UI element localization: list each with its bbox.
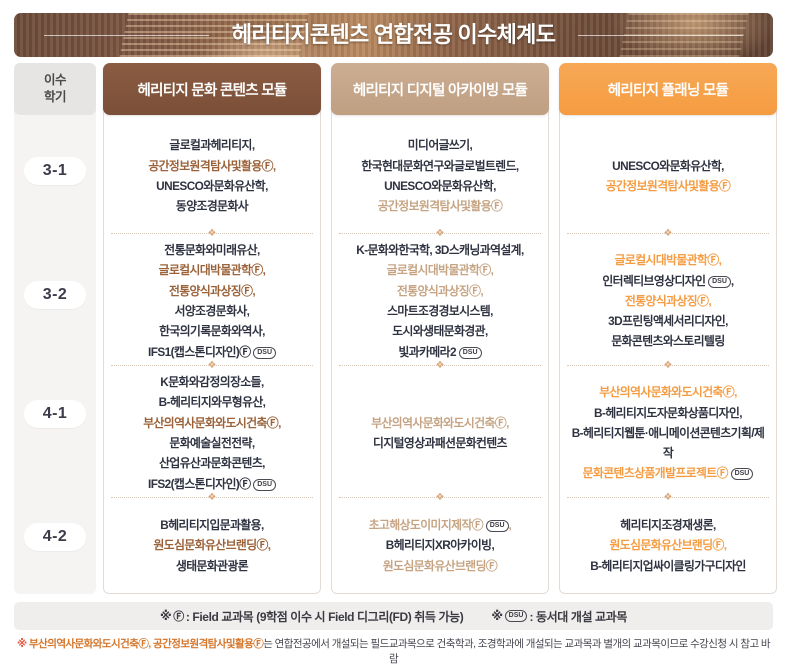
legend-text-dsu: : 동서대 개설 교과목 bbox=[529, 608, 627, 625]
course-name: 원도심문화유산브랜딩 bbox=[383, 559, 486, 573]
course-comma: , bbox=[491, 263, 494, 277]
cell-archive-3-2: K-문화와한국학, 3D스캐닝과역설계,글로컬시대박물관학Ⓕ,전통양식과상징Ⓕ,… bbox=[331, 239, 549, 363]
course-line: 인터렉티브영상디자인 DSU, bbox=[602, 271, 733, 291]
course-name: 전통양식과상징 bbox=[169, 284, 241, 298]
diamond-ornament-icon: ❖ bbox=[435, 493, 445, 503]
course-name: 글로컬시대박물관학 bbox=[159, 263, 252, 277]
course-line: UNESCO와문화유산학, bbox=[148, 176, 275, 196]
diamond-ornament-icon: ❖ bbox=[207, 229, 217, 239]
course-comma: , bbox=[731, 274, 734, 288]
course-comma: , bbox=[708, 294, 711, 308]
course-name: 도시와생태문화경관, bbox=[392, 324, 487, 338]
course-name: 동양조경문화사 bbox=[176, 199, 248, 213]
course-line: 문화콘텐츠상품개발프로젝트Ⓕ DSU bbox=[567, 463, 769, 483]
course-line: 한국현대문화연구와글로벌트렌드, bbox=[361, 156, 518, 176]
course-name: 인터렉티브영상디자인 bbox=[602, 274, 705, 288]
course-name: 산업유산과문화콘텐츠, bbox=[159, 456, 265, 470]
course-name: IFS1(캡스톤디자인) bbox=[148, 345, 239, 359]
course-line: 글로컬시대박물관학Ⓕ, bbox=[148, 260, 276, 280]
legend-star-icon: ※ bbox=[491, 609, 502, 623]
course-name: 한국현대문화연구와글로벌트렌드, bbox=[361, 159, 518, 173]
course-name: 서양조경문화사, bbox=[175, 304, 250, 318]
cell-planning-3-1: UNESCO와문화유산학,공간정보원격탐사및활용Ⓕ bbox=[559, 121, 777, 231]
semester-column-header: 이수 학기 bbox=[14, 63, 96, 115]
course-line: 헤리티지조경재생론, bbox=[590, 515, 746, 535]
cell-culture-4-1: K문화와감정의장소들,B-헤리티지와무형유산,부산의역사문화와도시건축Ⓕ,문화예… bbox=[103, 371, 321, 495]
module-header-planning[interactable]: 헤리티지 플래닝 모듈 bbox=[559, 63, 777, 115]
module-column-planning: 헤리티지 플래닝 모듈 UNESCO와문화유산학,공간정보원격탐사및활용Ⓕ 글로… bbox=[559, 63, 777, 594]
row-divider-archive-2: ❖ bbox=[339, 365, 541, 367]
legend-item-dsu: ※ DSU : 동서대 개설 교과목 bbox=[491, 608, 627, 625]
diamond-ornament-icon: ❖ bbox=[663, 493, 673, 503]
circle-f-icon: Ⓕ bbox=[707, 253, 718, 267]
course-line: 디지털영상과패션문화컨텐츠 bbox=[371, 433, 509, 453]
row-divider-culture-3: ❖ bbox=[111, 497, 313, 499]
footnote-emphasis-2: 공간정보원격탐사및활용Ⓕ bbox=[153, 638, 263, 650]
dsu-badge-icon: DSU bbox=[459, 347, 482, 359]
circle-f-icon: Ⓕ bbox=[173, 608, 184, 624]
circle-f-icon: Ⓕ bbox=[267, 416, 278, 430]
course-name: 헤리티지조경재생론, bbox=[620, 518, 715, 532]
course-line: IFS2(캡스톤디자인)Ⓕ DSU bbox=[143, 474, 281, 494]
course-name: 미디어글쓰기, bbox=[408, 138, 473, 152]
course-comma: , bbox=[480, 284, 483, 298]
cell-archive-4-1: 부산의역사문화와도시건축Ⓕ,디지털영상과패션문화컨텐츠 bbox=[331, 371, 549, 495]
course-line: 전통양식과상징Ⓕ, bbox=[148, 281, 276, 301]
circle-f-icon: Ⓕ bbox=[257, 538, 268, 552]
circle-f-icon: Ⓕ bbox=[251, 263, 262, 277]
row-divider-planning-1: ❖ bbox=[567, 233, 769, 235]
course-name: 공간정보원격탐사및활용 bbox=[378, 199, 491, 213]
semester-label-4-2: 4-2 bbox=[24, 523, 86, 551]
course-line: B-헤리티지웹툰·애니메이션콘텐츠기획/제작 bbox=[567, 423, 769, 464]
course-line: UNESCO와문화유산학, bbox=[361, 176, 518, 196]
page-title: 헤리티지콘텐츠 연합전공 이수체계도 bbox=[14, 13, 773, 57]
course-name: 글로컬시대박물관학 bbox=[387, 263, 480, 277]
course-name: 공간정보원격탐사및활용 bbox=[606, 179, 719, 193]
title-banner: 헤리티지콘텐츠 연합전공 이수체계도 bbox=[14, 13, 773, 57]
dsu-badge-icon: DSU bbox=[253, 479, 276, 491]
curriculum-grid: 이수 학기 3-1 3-2 4-1 4-2 헤리티지 문화 콘텐츠 모듈 글로컬… bbox=[14, 63, 773, 594]
circle-f-icon: Ⓕ bbox=[719, 179, 730, 193]
course-line: 미디어글쓰기, bbox=[361, 135, 518, 155]
course-comma: , bbox=[719, 253, 722, 267]
circle-f-icon: Ⓕ bbox=[479, 263, 490, 277]
course-line: 원도심문화유산브랜딩Ⓕ, bbox=[153, 535, 270, 555]
course-name: B-헤리티지와무형유산, bbox=[159, 395, 266, 409]
course-line: 공간정보원격탐사및활용Ⓕ bbox=[606, 176, 731, 196]
semester-label-4-1: 4-1 bbox=[24, 400, 86, 428]
course-name: 공간정보원격탐사및활용 bbox=[148, 159, 261, 173]
row-divider-culture-2: ❖ bbox=[111, 365, 313, 367]
course-comma: , bbox=[273, 159, 276, 173]
course-comma: , bbox=[509, 518, 512, 532]
course-name: 문화콘텐츠와스토리텔링 bbox=[611, 334, 724, 348]
row-divider-culture-1: ❖ bbox=[111, 233, 313, 235]
legend-star-icon: ※ bbox=[160, 609, 171, 623]
module-column-archive: 헤리티지 디지털 아카이빙 모듈 미디어글쓰기,한국현대문화연구와글로벌트렌드,… bbox=[331, 63, 549, 594]
course-line: K-문화와한국학, 3D스캐닝과역설계, bbox=[356, 240, 523, 260]
course-comma: , bbox=[268, 538, 271, 552]
course-comma: , bbox=[252, 284, 255, 298]
course-name: 문화예술실전전략, bbox=[169, 436, 254, 450]
circle-f-icon: Ⓕ bbox=[486, 559, 497, 573]
course-line: 원도심문화유산브랜딩Ⓕ bbox=[369, 556, 512, 576]
course-name: K-문화와한국학, 3D스캐닝과역설계, bbox=[356, 243, 523, 257]
course-line: B-헤리티지도자문화상품디자인, bbox=[567, 403, 769, 423]
circle-f-icon: Ⓕ bbox=[239, 477, 250, 491]
course-line: 원도심문화유산브랜딩Ⓕ, bbox=[590, 535, 746, 555]
course-line: 문화예술실전전략, bbox=[143, 433, 281, 453]
course-comma: , bbox=[278, 416, 281, 430]
cell-culture-3-1: 글로컬과헤리티지,공간정보원격탐사및활용Ⓕ,UNESCO와문화유산학,동양조경문… bbox=[103, 121, 321, 231]
dsu-badge-icon: DSU bbox=[708, 276, 731, 288]
course-name: 전통양식과상징 bbox=[397, 284, 469, 298]
footnote-star-icon: ※ bbox=[17, 638, 27, 650]
course-line: 글로컬과헤리티지, bbox=[148, 135, 275, 155]
course-name: 부산의역사문화와도시건축 bbox=[599, 385, 723, 399]
circle-f-icon: Ⓕ bbox=[472, 518, 483, 532]
course-name: 전통양식과상징 bbox=[625, 294, 697, 308]
course-name: 빛과카메라2 bbox=[398, 345, 456, 359]
course-name: 전통문화와미래유산, bbox=[164, 243, 259, 257]
cell-archive-3-1: 미디어글쓰기,한국현대문화연구와글로벌트렌드,UNESCO와문화유산학,공간정보… bbox=[331, 121, 549, 231]
circle-f-icon: Ⓕ bbox=[697, 294, 708, 308]
circle-f-icon: Ⓕ bbox=[241, 284, 252, 298]
module-header-culture[interactable]: 헤리티지 문화 콘텐츠 모듈 bbox=[103, 63, 321, 115]
cell-culture-4-2: B헤리티지입문과활용,원도심문화유산브랜딩Ⓕ,생태문화관광론 bbox=[103, 503, 321, 588]
course-name: B-헤리티지웹툰·애니메이션콘텐츠기획/제작 bbox=[572, 426, 765, 460]
semester-header-line1: 이수 bbox=[44, 72, 66, 89]
legend-bar: ※ Ⓕ : Field 교과목 (9학점 이수 시 Field 디그리(FD) … bbox=[14, 602, 773, 630]
course-line: 전통문화와미래유산, bbox=[148, 240, 276, 260]
course-line: IFS1(캡스톤디자인)Ⓕ DSU bbox=[148, 342, 276, 362]
footnote: ※ 부산의역사문화와도시건축Ⓕ, 공간정보원격탐사및활용Ⓕ는 연합전공에서 개설… bbox=[14, 636, 773, 666]
row-divider-archive-3: ❖ bbox=[339, 497, 541, 499]
circle-f-icon: Ⓕ bbox=[262, 159, 273, 173]
course-comma: , bbox=[506, 416, 509, 430]
course-comma: , bbox=[724, 538, 727, 552]
footnote-rest: 는 연합전공에서 개설되는 필드교과목으로 건축학과, 조경학과에 개설되는 교… bbox=[263, 638, 770, 665]
module-column-culture: 헤리티지 문화 콘텐츠 모듈 글로컬과헤리티지,공간정보원격탐사및활용Ⓕ,UNE… bbox=[103, 63, 321, 594]
course-name: B헤리티지XR아카이빙, bbox=[386, 538, 494, 552]
course-name: 스마트조경경보시스템, bbox=[387, 304, 493, 318]
cell-planning-4-2: 헤리티지조경재생론,원도심문화유산브랜딩Ⓕ,B-헤리티지업싸이클링가구디자인 bbox=[559, 503, 777, 588]
diamond-ornament-icon: ❖ bbox=[663, 361, 673, 371]
course-name: B-헤리티지도자문화상품디자인, bbox=[594, 406, 742, 420]
module-header-archive[interactable]: 헤리티지 디지털 아카이빙 모듈 bbox=[331, 63, 549, 115]
course-line: B-헤리티지와무형유산, bbox=[143, 392, 281, 412]
course-line: 초고해상도이미지제작Ⓕ DSU, bbox=[369, 515, 512, 535]
cell-culture-3-2: 전통문화와미래유산,글로컬시대박물관학Ⓕ,전통양식과상징Ⓕ,서양조경문화사,한국… bbox=[103, 239, 321, 363]
circle-f-icon: Ⓕ bbox=[495, 416, 506, 430]
dsu-badge-icon: DSU bbox=[505, 610, 528, 622]
course-name: UNESCO와문화유산학, bbox=[612, 159, 724, 173]
course-line: 3D프린팅액세서리디자인, bbox=[602, 311, 733, 331]
diamond-ornament-icon: ❖ bbox=[207, 493, 217, 503]
course-line: K문화와감정의장소들, bbox=[143, 372, 281, 392]
course-name: 3D프린팅액세서리디자인, bbox=[608, 314, 728, 328]
diamond-ornament-icon: ❖ bbox=[435, 361, 445, 371]
course-name: 생태문화관광론 bbox=[176, 559, 248, 573]
course-line: 부산의역사문화와도시건축Ⓕ, bbox=[567, 382, 769, 402]
course-line: 도시와생태문화경관, bbox=[356, 321, 523, 341]
course-name: 한국의기록문화와역사, bbox=[159, 324, 265, 338]
legend-item-field: ※ Ⓕ : Field 교과목 (9학점 이수 시 Field 디그리(FD) … bbox=[160, 608, 463, 625]
footnote-emphasis-1: 부산의역사문화와도시건축Ⓕ bbox=[29, 638, 148, 650]
semester-label-3-1: 3-1 bbox=[24, 157, 86, 185]
circle-f-icon: Ⓕ bbox=[491, 199, 502, 213]
dsu-badge-icon: DSU bbox=[731, 468, 754, 480]
course-line: UNESCO와문화유산학, bbox=[606, 156, 731, 176]
course-name: UNESCO와문화유산학, bbox=[384, 179, 496, 193]
dsu-badge-icon: DSU bbox=[253, 347, 276, 359]
circle-f-icon: Ⓕ bbox=[469, 284, 480, 298]
course-line: 글로컬시대박물관학Ⓕ, bbox=[602, 250, 733, 270]
diamond-ornament-icon: ❖ bbox=[435, 229, 445, 239]
course-name: 글로컬과헤리티지, bbox=[169, 138, 254, 152]
course-name: B헤리티지입문과활용, bbox=[160, 518, 263, 532]
course-line: 생태문화관광론 bbox=[153, 556, 270, 576]
circle-f-icon: Ⓕ bbox=[723, 385, 734, 399]
course-name: 부산의역사문화와도시건축 bbox=[371, 416, 495, 430]
course-name: K문화와감정의장소들, bbox=[160, 375, 263, 389]
circle-f-icon: Ⓕ bbox=[717, 466, 728, 480]
curriculum-diagram: 헤리티지콘텐츠 연합전공 이수체계도 이수 학기 3-1 3-2 4-1 4-2… bbox=[0, 0, 787, 658]
diamond-ornament-icon: ❖ bbox=[207, 361, 217, 371]
course-line: 부산의역사문화와도시건축Ⓕ, bbox=[371, 413, 509, 433]
course-line: 공간정보원격탐사및활용Ⓕ bbox=[361, 196, 518, 216]
course-line: B헤리티지XR아카이빙, bbox=[369, 535, 512, 555]
circle-f-icon: Ⓕ bbox=[239, 345, 250, 359]
course-line: 스마트조경경보시스템, bbox=[356, 301, 523, 321]
course-name: 원도심문화유산브랜딩 bbox=[153, 538, 256, 552]
cell-archive-4-2: 초고해상도이미지제작Ⓕ DSU,B헤리티지XR아카이빙,원도심문화유산브랜딩Ⓕ bbox=[331, 503, 549, 588]
course-name: UNESCO와문화유산학, bbox=[156, 179, 268, 193]
course-name: IFS2(캡스톤디자인) bbox=[148, 477, 239, 491]
circle-f-icon: Ⓕ bbox=[713, 538, 724, 552]
course-line: 전통양식과상징Ⓕ, bbox=[356, 281, 523, 301]
row-divider-planning-3: ❖ bbox=[567, 497, 769, 499]
course-line: 동양조경문화사 bbox=[148, 196, 275, 216]
course-line: 빛과카메라2 DSU bbox=[356, 342, 523, 362]
row-divider-planning-2: ❖ bbox=[567, 365, 769, 367]
course-line: 부산의역사문화와도시건축Ⓕ, bbox=[143, 413, 281, 433]
course-line: 서양조경문화사, bbox=[148, 301, 276, 321]
course-name: B-헤리티지업싸이클링가구디자인 bbox=[590, 559, 746, 573]
course-line: 글로컬시대박물관학Ⓕ, bbox=[356, 260, 523, 280]
cell-planning-3-2: 글로컬시대박물관학Ⓕ,인터렉티브영상디자인 DSU,전통양식과상징Ⓕ,3D프린팅… bbox=[559, 239, 777, 363]
diamond-ornament-icon: ❖ bbox=[663, 229, 673, 239]
course-name: 초고해상도이미지제작 bbox=[369, 518, 472, 532]
course-line: 산업유산과문화콘텐츠, bbox=[143, 453, 281, 473]
course-comma: , bbox=[263, 263, 266, 277]
course-line: B헤리티지입문과활용, bbox=[153, 515, 270, 535]
course-line: 전통양식과상징Ⓕ, bbox=[602, 291, 733, 311]
row-divider-archive-1: ❖ bbox=[339, 233, 541, 235]
course-comma: , bbox=[734, 385, 737, 399]
cell-planning-4-1: 부산의역사문화와도시건축Ⓕ,B-헤리티지도자문화상품디자인,B-헤리티지웹툰·애… bbox=[559, 371, 777, 495]
semester-label-3-2: 3-2 bbox=[24, 281, 86, 309]
course-name: 글로컬시대박물관학 bbox=[615, 253, 708, 267]
course-line: 한국의기록문화와역사, bbox=[148, 321, 276, 341]
semester-header-line2: 학기 bbox=[44, 89, 66, 106]
course-line: 공간정보원격탐사및활용Ⓕ, bbox=[148, 156, 275, 176]
dsu-badge-icon: DSU bbox=[486, 520, 509, 532]
course-name: 문화콘텐츠상품개발프로젝트 bbox=[583, 466, 717, 480]
legend-text-field: : Field 교과목 (9학점 이수 시 Field 디그리(FD) 취득 가… bbox=[186, 608, 463, 625]
course-name: 원도심문화유산브랜딩 bbox=[609, 538, 712, 552]
course-line: B-헤리티지업싸이클링가구디자인 bbox=[590, 556, 746, 576]
course-line: 문화콘텐츠와스토리텔링 bbox=[602, 331, 733, 351]
course-name: 부산의역사문화와도시건축 bbox=[143, 416, 267, 430]
semester-column bbox=[14, 63, 96, 594]
course-name: 디지털영상과패션문화컨텐츠 bbox=[373, 436, 507, 450]
